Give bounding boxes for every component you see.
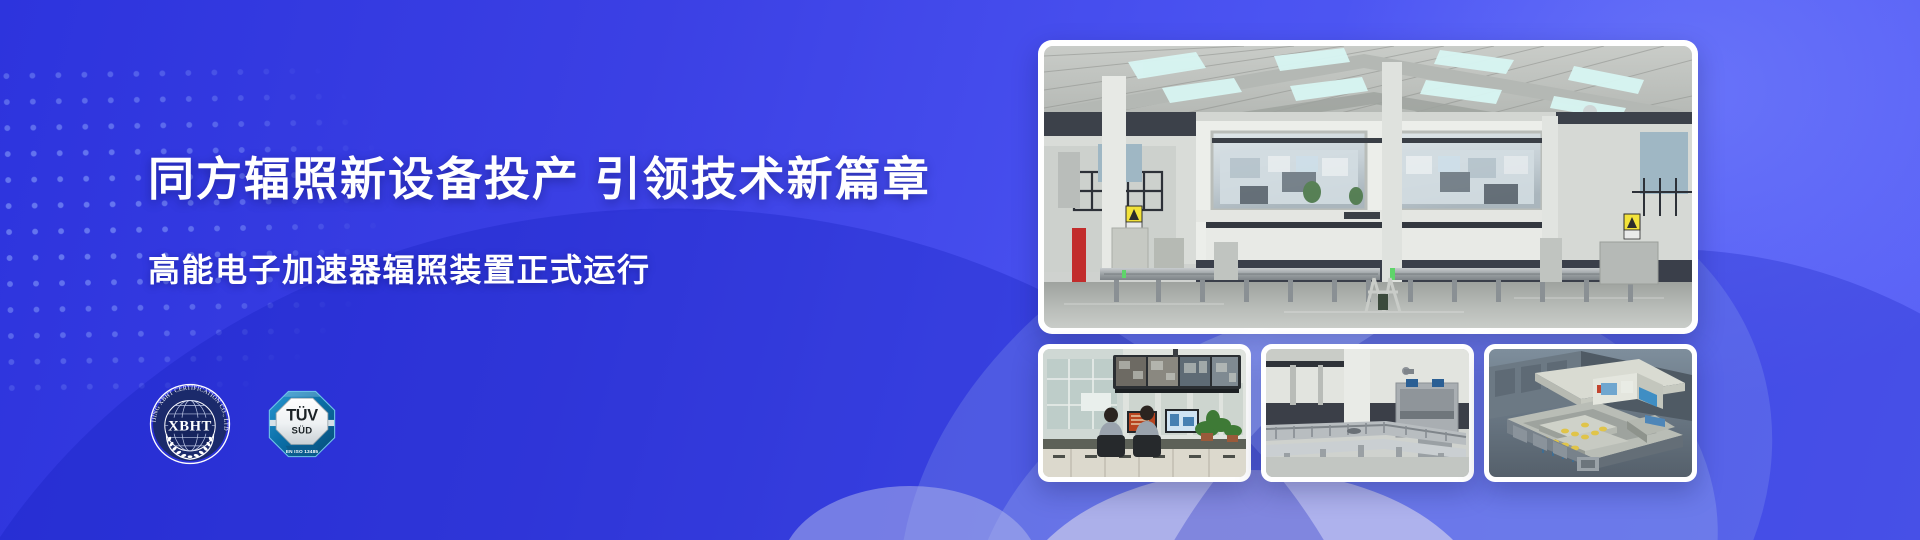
banner-text-block: 同方辐照新设备投产 引领技术新篇章 高能电子加速器辐照装置正式运行 [148, 152, 968, 290]
control-room-photo-frame[interactable] [1038, 344, 1251, 482]
xbht-certification-badge-icon: BEIJING XBHT CERTIFICATION CO., LTD XBHT [148, 382, 232, 466]
irradiation-hall-photo-frame[interactable] [1038, 40, 1698, 334]
control-room-photo[interactable] [1043, 349, 1246, 477]
photo-cluster [1038, 40, 1698, 482]
svg-text:TÜV: TÜV [286, 406, 318, 425]
svg-text:EN ISO 13485: EN ISO 13485 [286, 449, 318, 455]
conveyor-system-photo-frame[interactable] [1261, 344, 1474, 482]
facility-3d-illustration [1489, 349, 1692, 477]
banner-subheadline: 高能电子加速器辐照装置正式运行 [148, 251, 968, 289]
irradiation-hall-illustration [1044, 46, 1692, 328]
facility-3d-render[interactable] [1489, 349, 1692, 477]
conveyor-system-photo[interactable] [1266, 349, 1469, 477]
tuv-sud-badge-icon: TÜV SÜD EN ISO 13485 [268, 390, 336, 458]
white-arc-secondary [780, 486, 1040, 540]
control-room-illustration [1043, 349, 1246, 477]
thumbnail-row [1038, 344, 1698, 482]
conveyor-illustration [1266, 349, 1469, 477]
irradiation-hall-photo[interactable] [1044, 46, 1692, 328]
svg-text:XBHT: XBHT [168, 418, 212, 434]
facility-3d-render-frame[interactable] [1484, 344, 1697, 482]
banner-headline: 同方辐照新设备投产 引领技术新篇章 [148, 152, 968, 207]
svg-text:SÜD: SÜD [292, 426, 313, 437]
certification-badges: BEIJING XBHT CERTIFICATION CO., LTD XBHT [148, 382, 336, 466]
promo-banner: 同方辐照新设备投产 引领技术新篇章 高能电子加速器辐照装置正式运行 BEIJIN… [0, 0, 1920, 540]
